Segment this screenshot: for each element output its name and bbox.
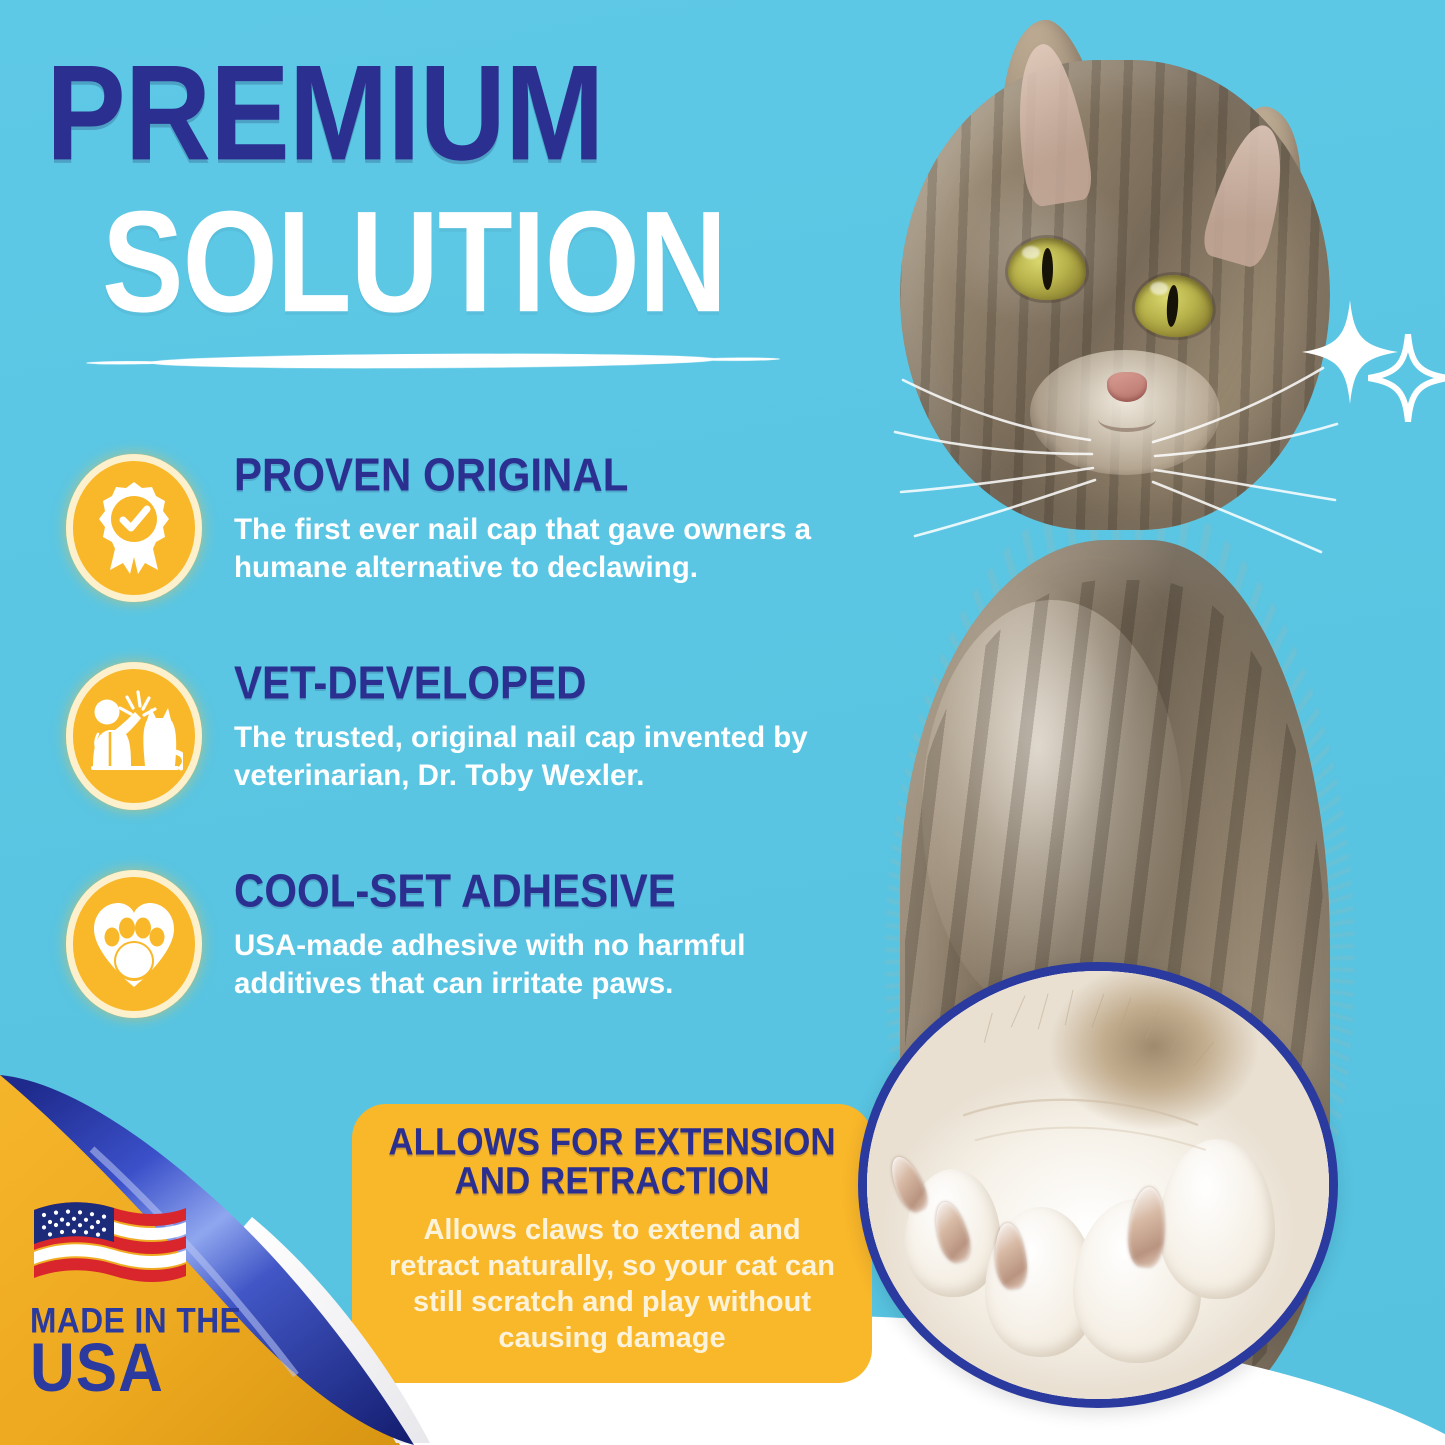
headline-block: PREMIUM SOLUTION bbox=[46, 52, 846, 306]
feature-item-vet-developed: VET-DEVELOPED The trusted, original nail… bbox=[58, 654, 858, 818]
feature-item-cool-set-adhesive: COOL-SET ADHESIVE USA-made adhesive with… bbox=[58, 862, 858, 1026]
cat-eye-left bbox=[1008, 238, 1086, 300]
feature-description: USA-made adhesive with no harmful additi… bbox=[234, 927, 814, 1004]
us-flag-icon bbox=[30, 1194, 190, 1292]
vet-high-five-cat-icon bbox=[58, 654, 210, 818]
cat-eye-gloss-right bbox=[1150, 281, 1169, 295]
headline-line-2: SOLUTION bbox=[102, 196, 861, 328]
cat-pupil-left bbox=[1042, 248, 1053, 290]
feature-list: PROVEN ORIGINAL The first ever nail cap … bbox=[58, 446, 858, 1070]
feature-description: The first ever nail cap that gave owners… bbox=[234, 511, 814, 588]
sparkle-outline-icon bbox=[1368, 334, 1445, 422]
paw-closeup-inset bbox=[858, 962, 1338, 1408]
promo-image-stage: PREMIUM SOLUTION bbox=[0, 0, 1445, 1445]
feature-icon-wrapper bbox=[58, 654, 210, 818]
page-curl-corner: MADE IN THE USA bbox=[0, 1075, 430, 1445]
made-in-usa-badge: MADE IN THE USA bbox=[30, 1194, 260, 1403]
feature-title: PROVEN ORIGINAL bbox=[234, 452, 858, 499]
usa-label: USA bbox=[30, 1333, 260, 1403]
extension-retraction-callout: ALLOWS FOR EXTENSION AND RETRACTION Allo… bbox=[352, 1104, 872, 1383]
callout-description: Allows claws to extend and retract natur… bbox=[378, 1213, 846, 1357]
feature-title: COOL-SET ADHESIVE bbox=[234, 868, 858, 915]
white-swoosh-underline bbox=[148, 352, 718, 370]
cat-eye-gloss-left bbox=[1022, 246, 1040, 259]
feature-text-wrapper: COOL-SET ADHESIVE USA-made adhesive with… bbox=[234, 862, 858, 1004]
heart-paw-icon bbox=[58, 862, 210, 1026]
feature-icon-wrapper bbox=[58, 446, 210, 610]
feature-icon-wrapper bbox=[58, 862, 210, 1026]
cat-mouth bbox=[1098, 406, 1156, 432]
feature-text-wrapper: PROVEN ORIGINAL The first ever nail cap … bbox=[234, 446, 858, 588]
callout-title: ALLOWS FOR EXTENSION AND RETRACTION bbox=[378, 1123, 846, 1202]
paw-fur-texture bbox=[867, 971, 1329, 1400]
feature-title: VET-DEVELOPED bbox=[234, 660, 858, 707]
feature-item-proven-original: PROVEN ORIGINAL The first ever nail cap … bbox=[58, 446, 858, 610]
feature-text-wrapper: VET-DEVELOPED The trusted, original nail… bbox=[234, 654, 858, 796]
headline-line-1: PREMIUM bbox=[46, 52, 878, 177]
feature-description: The trusted, original nail cap invented … bbox=[234, 719, 814, 796]
award-ribbon-icon bbox=[58, 446, 210, 610]
